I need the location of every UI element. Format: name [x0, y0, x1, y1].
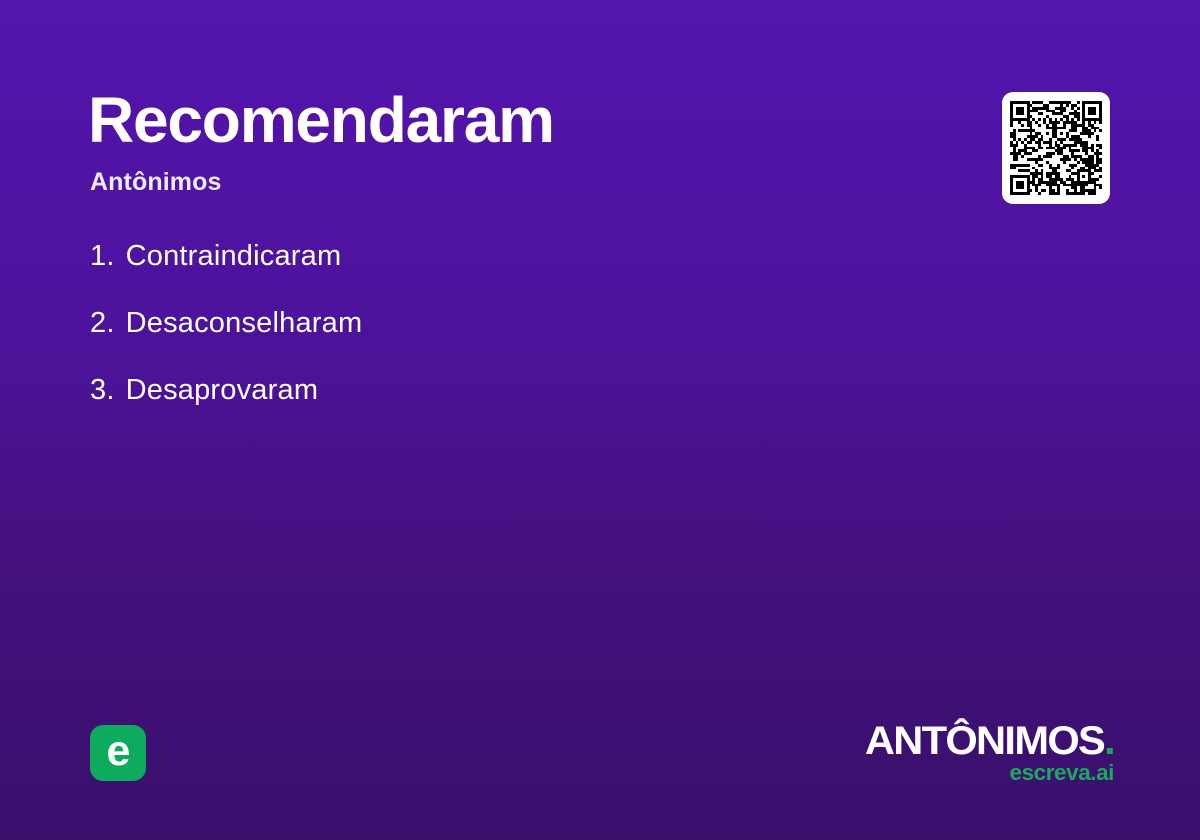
qr-code-card[interactable]: [1002, 92, 1110, 204]
list-item: 1. Contraindicaram: [90, 236, 850, 303]
list-item-number: 3.: [90, 370, 115, 410]
brand-name: ANTÔNIMOS.: [802, 722, 1114, 761]
list-item: 3. Desaprovaram: [90, 370, 850, 437]
escreva-app-icon[interactable]: e: [90, 725, 146, 781]
list-item: 2. Desaconselharam: [90, 303, 850, 370]
antonyms-list: 1. Contraindicaram 2. Desaconselharam 3.…: [90, 236, 850, 437]
word-card: Recomendaram Antônimos 1. Contraindicara…: [0, 0, 1200, 840]
list-item-label: Contraindicaram: [126, 236, 342, 276]
list-item-number: 2.: [90, 303, 115, 343]
page-title: Recomendaram: [88, 88, 554, 152]
qr-code-icon: [1010, 101, 1102, 195]
app-icon-letter: e: [107, 730, 130, 773]
list-item-number: 1.: [90, 236, 115, 276]
brand-name-text: ANTÔNIMOS: [865, 719, 1104, 763]
page-subtitle: Antônimos: [90, 168, 221, 197]
brand-wordmark: ANTÔNIMOS. escreva.ai: [814, 722, 1114, 784]
brand-subtitle: escreva.ai: [808, 762, 1114, 784]
list-item-label: Desaconselharam: [126, 303, 363, 343]
brand-dot: .: [1104, 719, 1114, 763]
list-item-label: Desaprovaram: [126, 370, 319, 410]
